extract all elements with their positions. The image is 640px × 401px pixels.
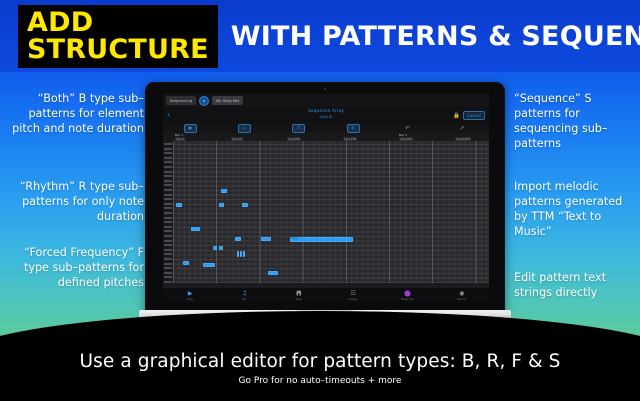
pitch-row-label — [164, 175, 172, 177]
tool-grid[interactable]: ▦ — [163, 124, 217, 133]
note-block[interactable] — [219, 246, 223, 250]
nav-play[interactable]: ▶ Play — [163, 290, 217, 301]
note-block[interactable] — [243, 251, 245, 257]
pattern-grid-editor[interactable]: Bar 1Seq 1Seq 31Seq 101Seq 130Bar 2Seq 2… — [163, 133, 489, 283]
paste-icon: ⎘ — [347, 124, 360, 133]
annotation-forced-frequency-type: “Forced Frequency” F type sub–patterns f… — [8, 245, 144, 290]
tab-bar: Sequencing ▸ My Strip Mix — [163, 94, 489, 107]
pitch-row-label — [164, 180, 172, 182]
pitch-row-label — [164, 253, 172, 255]
nav-record-label: Record — [457, 298, 466, 301]
annotation-rhythm-type: “Rhythm” R type sub–patterns for only no… — [8, 179, 144, 224]
webcam-icon — [324, 88, 326, 90]
title-bar-actions: 🔒 Cancel — [453, 111, 485, 120]
note-block[interactable] — [219, 203, 224, 207]
note-block[interactable] — [261, 237, 271, 241]
annotation-sequence-type: “Sequence” S patterns for sequencing sub… — [514, 91, 636, 151]
note-block[interactable] — [203, 263, 215, 267]
laptop-lid: Sequencing ▸ My Strip Mix ‹ Sequence Arr… — [145, 82, 505, 314]
laptop-screen: Sequencing ▸ My Strip Mix ‹ Sequence Arr… — [163, 94, 489, 302]
grid-icon: ▦ — [184, 124, 197, 133]
grid-area[interactable]: Seq 3 — [173, 141, 489, 283]
note-block[interactable] — [268, 271, 278, 275]
cancel-button[interactable]: Cancel — [463, 111, 485, 120]
pitch-row-label — [164, 184, 172, 186]
annotation-both-type: “Both” B type sub–patterns for element p… — [8, 91, 144, 136]
note-block[interactable] — [213, 246, 217, 250]
pitch-row-label — [164, 207, 172, 209]
page-subtitle: (Seq 8) — [163, 115, 489, 120]
annotation-edit-pattern-text: Edit pattern text strings directly — [514, 270, 636, 300]
pitch-row-label — [164, 258, 172, 260]
note-block[interactable] — [235, 237, 241, 241]
note-block[interactable] — [221, 189, 227, 193]
note-icon: ♫ — [242, 290, 247, 297]
nav-magic-mix[interactable]: ⬤ Magic Mix — [380, 290, 434, 301]
note-block[interactable] — [242, 203, 248, 207]
app-window: Sequencing ▸ My Strip Mix ‹ Sequence Arr… — [163, 94, 489, 302]
pitch-row-label — [164, 221, 172, 223]
editor-toolbar: ▦ ♪ ☐ ⎘ ↶ ↗ — [163, 123, 489, 133]
pitch-row-label — [164, 240, 172, 242]
pitch-row-label — [164, 198, 172, 200]
pitch-row-label — [164, 281, 172, 283]
pitch-row-label — [164, 166, 172, 168]
pitch-row-label — [164, 263, 172, 265]
pitch-row-label — [164, 217, 172, 219]
pitch-row-label — [164, 203, 172, 205]
undo-icon: ↶ — [405, 125, 410, 132]
tool-share[interactable]: ↗ — [435, 125, 489, 132]
headline-rest: WITH PATTERNS & SEQUENCES — [231, 23, 640, 50]
pitch-row-label — [164, 272, 172, 274]
pitch-row-label — [164, 226, 172, 228]
nav-record[interactable]: ◉ Record — [435, 290, 489, 301]
pitch-row-label — [164, 189, 172, 191]
footer-title: Use a graphical editor for pattern types… — [0, 351, 640, 373]
nav-play-label: Play — [187, 298, 192, 301]
pitch-row-label — [164, 235, 172, 237]
select-icon: ☐ — [292, 124, 305, 133]
record-icon: ◉ — [459, 290, 464, 297]
lock-icon[interactable]: 🔒 — [453, 113, 460, 119]
nav-mix-label: Mix — [242, 298, 247, 301]
save-icon: 🖪 — [296, 290, 301, 297]
pitch-row-label — [164, 230, 172, 232]
tool-paste[interactable]: ⎘ — [326, 124, 380, 133]
title-bar: ‹ Sequence Array (Seq 8) 🔒 Cancel — [163, 107, 489, 123]
note-block[interactable] — [191, 227, 200, 231]
bar-header: Bar 1Seq 1Seq 31Seq 101Seq 130Bar 2Seq 2… — [163, 133, 489, 141]
pitch-row-label — [164, 194, 172, 196]
pitch-row-label — [164, 157, 172, 159]
magic-icon: ⬤ — [404, 290, 411, 297]
pitch-row-label — [164, 249, 172, 251]
annotation-import-melodic: Import melodic patterns generated by TTM… — [514, 179, 636, 239]
pitch-row-label — [164, 212, 172, 214]
pitch-row-label — [164, 171, 172, 173]
tab-sequencing[interactable]: Sequencing — [166, 96, 196, 105]
laptop-mockup: Sequencing ▸ My Strip Mix ‹ Sequence Arr… — [139, 82, 511, 322]
nav-save[interactable]: 🖪 Save — [272, 290, 326, 301]
screenshot-stage: ADD STRUCTURE WITH PATTERNS & SEQUENCES … — [0, 0, 640, 401]
pitch-row-label — [164, 161, 172, 163]
tool-undo[interactable]: ↶ — [380, 125, 434, 132]
headline-band: ADD STRUCTURE WITH PATTERNS & SEQUENCES — [0, 0, 640, 72]
nav-mix[interactable]: ♫ Mix — [217, 290, 271, 301]
play-icon: ▶ — [188, 290, 193, 297]
pitch-row-label — [164, 143, 172, 145]
nav-magic-mix-label: Magic Mix — [401, 298, 414, 301]
note-block[interactable]: Seq 3 — [290, 237, 353, 242]
note-icon: ♪ — [238, 124, 250, 133]
note-block[interactable] — [176, 203, 182, 207]
note-block[interactable] — [183, 261, 189, 265]
tool-select[interactable]: ☐ — [272, 124, 326, 133]
nav-save-label: Save — [296, 298, 302, 301]
tab-my-strip-mix[interactable]: My Strip Mix — [212, 96, 243, 105]
note-block-label: Seq 3 — [291, 237, 298, 241]
bottom-nav: ▶ Play ♫ Mix 🖪 Save ☷ D — [163, 288, 489, 302]
tool-note[interactable]: ♪ — [217, 124, 271, 133]
note-block[interactable] — [237, 251, 239, 257]
chevron-right-icon[interactable]: ▸ — [199, 96, 209, 106]
pitch-row-label — [164, 276, 172, 278]
pitch-row-label — [164, 148, 172, 150]
note-block[interactable] — [240, 251, 242, 257]
pitch-row-label — [164, 244, 172, 246]
display-icon: ☷ — [350, 290, 355, 297]
nav-display[interactable]: ☷ Display — [326, 290, 380, 301]
pitch-row-label — [164, 267, 172, 269]
share-icon: ↗ — [459, 125, 464, 132]
nav-display-label: Display — [348, 298, 358, 301]
pitch-row-label — [164, 152, 172, 154]
headline-highlight: ADD STRUCTURE — [18, 5, 218, 68]
footer-subtitle: Go Pro for no auto–timeouts + more — [0, 375, 640, 387]
